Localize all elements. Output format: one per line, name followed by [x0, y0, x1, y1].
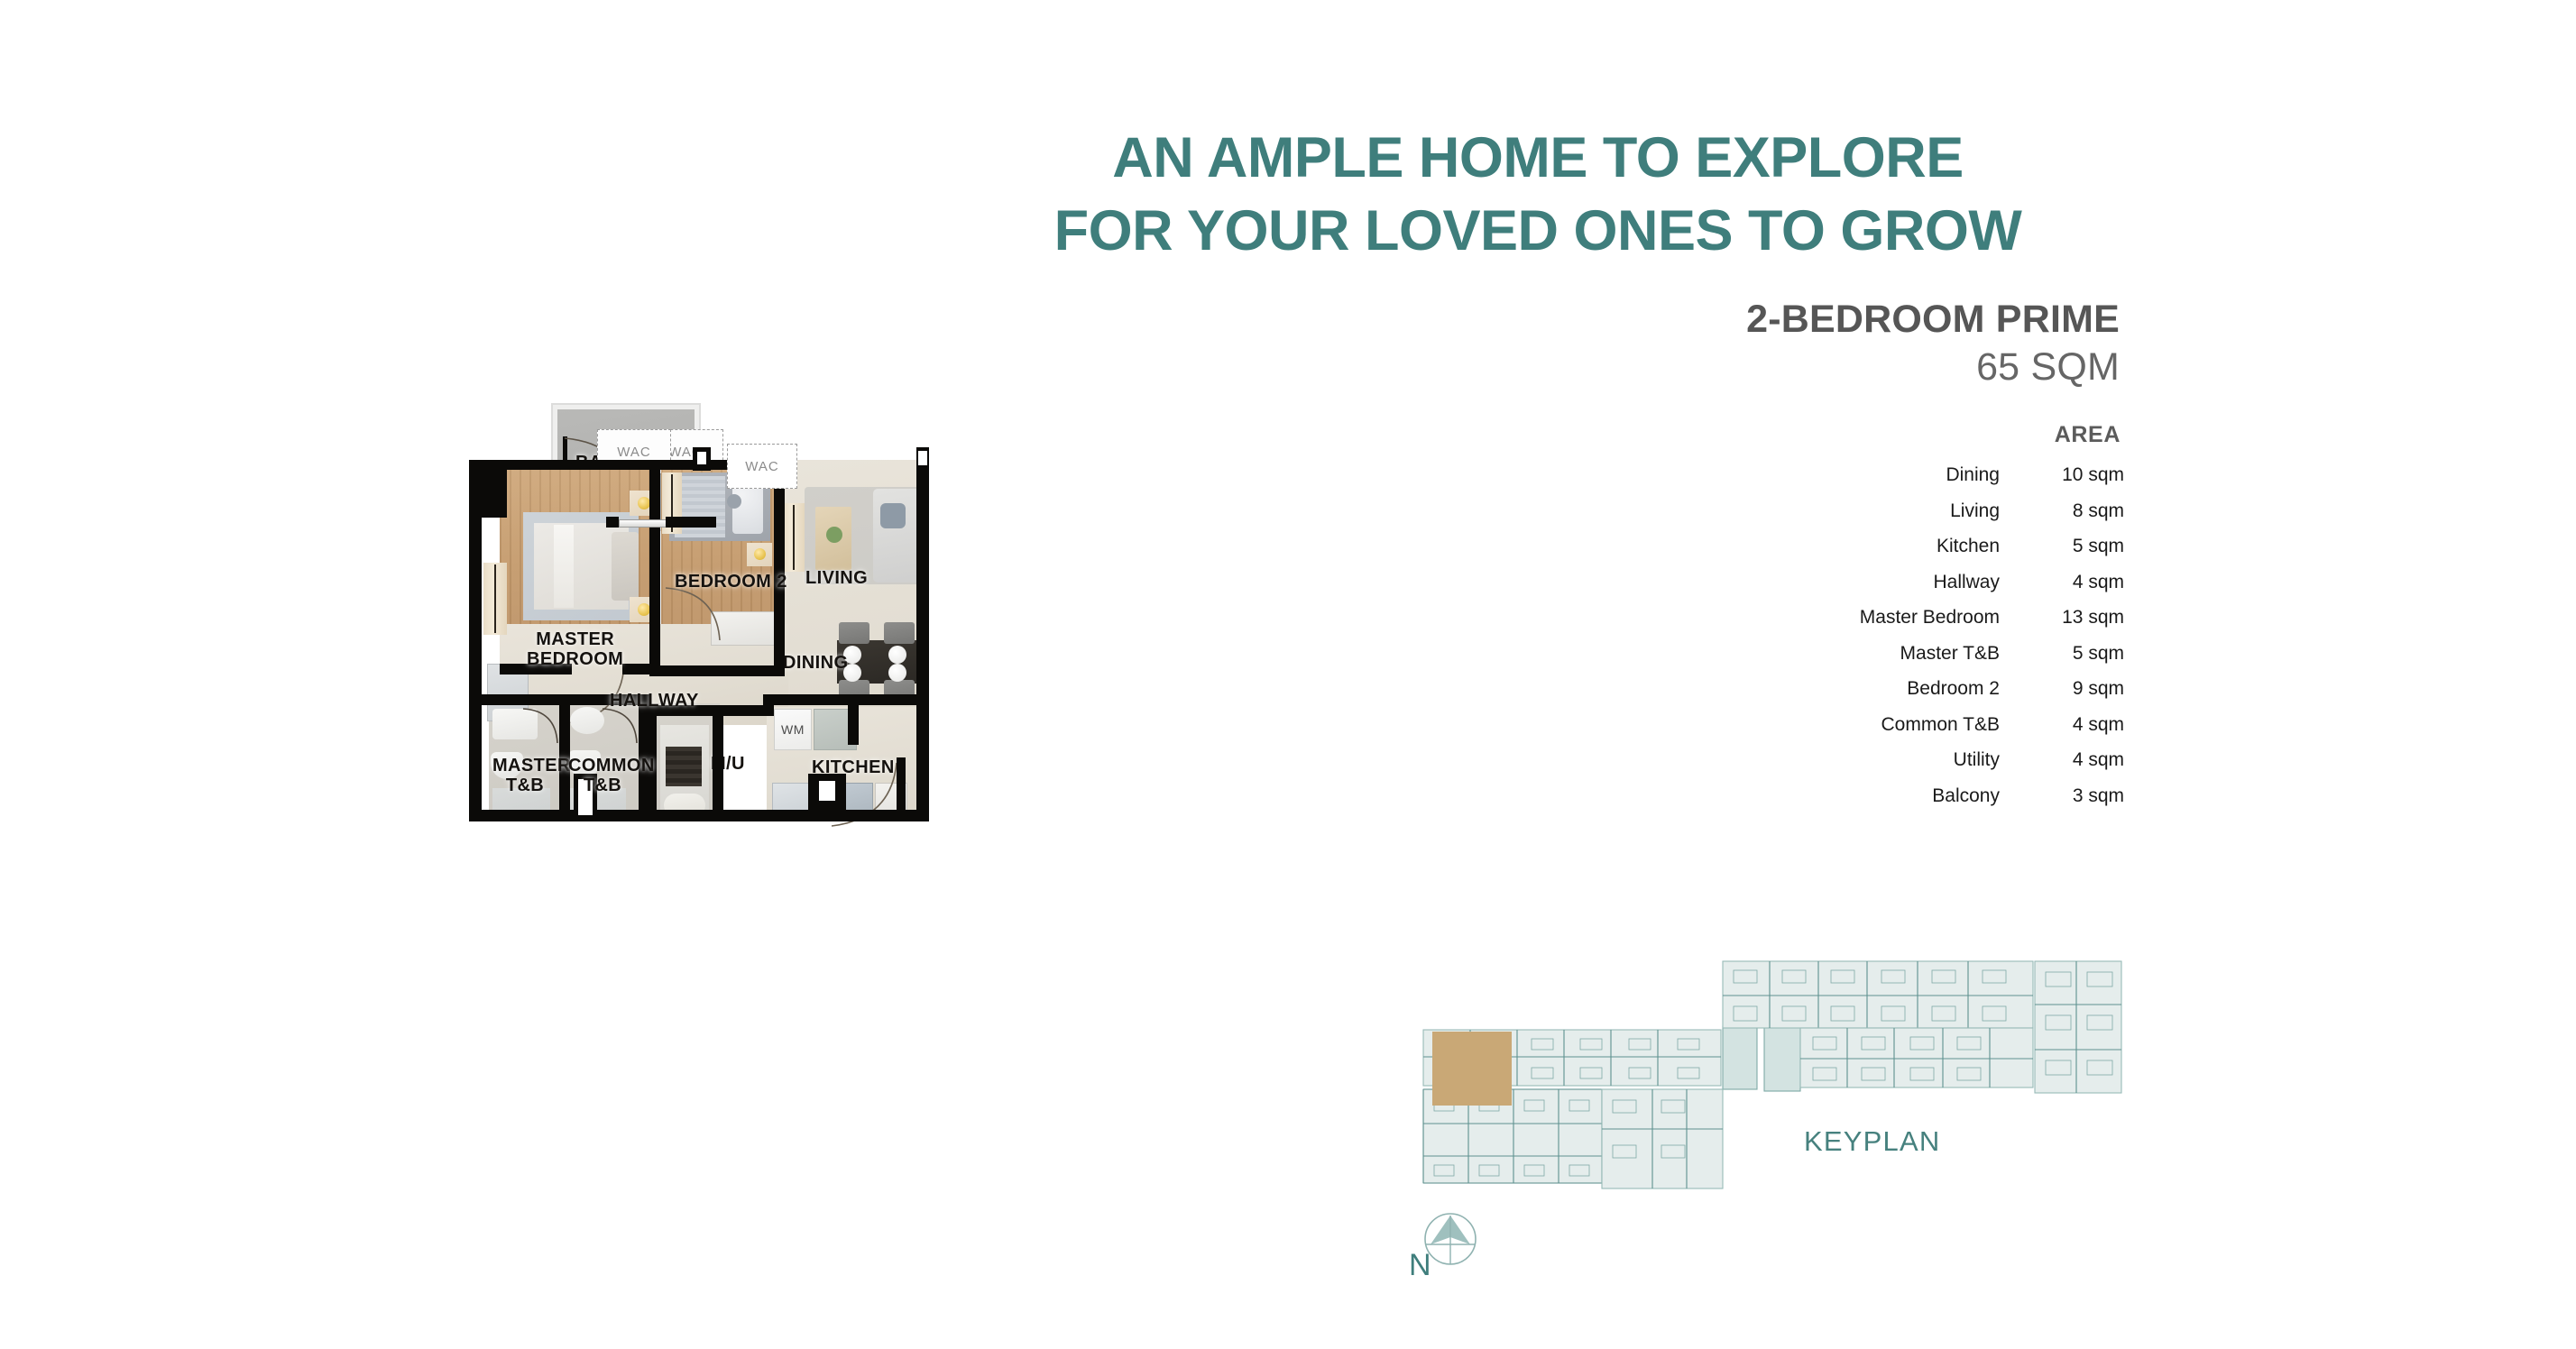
room-label-hallway: HALLWAY — [610, 691, 699, 711]
master-tb-door-swing-icon — [521, 707, 561, 745]
area-room-name: Master T&B — [1741, 643, 2009, 665]
area-room-name: Balcony — [1741, 785, 2009, 807]
room-label-bedroom-2: BEDROOM 2 — [675, 572, 787, 592]
utility-stair-unit — [666, 747, 702, 786]
unit-type-label: 2-BEDROOM PRIME — [1173, 298, 2120, 342]
area-room-name: Master Bedroom — [1741, 607, 2009, 629]
area-table: AREA Dining 10 sqm Living 8 sqm Kitchen … — [1741, 422, 2124, 821]
wall-bedroom2-living-divider — [774, 467, 785, 674]
unit-size-label: 65 SQM — [1173, 344, 2120, 392]
master-bed-sheet — [554, 525, 574, 608]
area-room-value: 3 sqm — [2009, 785, 2124, 807]
master-bed-pillows — [612, 532, 639, 601]
bedroom2-bed — [675, 476, 725, 537]
headline-line-2: FOR YOUR LOVED ONES TO GROW — [956, 195, 2120, 268]
entry-door-jamb — [897, 757, 906, 812]
area-room-name: Bedroom 2 — [1741, 678, 2009, 700]
bedroom2-side-table — [727, 494, 741, 509]
wall-exterior-right — [916, 447, 929, 821]
table-row: Bedroom 2 9 sqm — [1741, 678, 2124, 700]
wall-master-bedroom2-divider — [649, 467, 660, 676]
lamp-icon — [754, 548, 766, 560]
floor-plan: BALCONY WAC WAC — [469, 397, 1299, 1163]
area-room-value: 4 sqm — [2009, 572, 2124, 593]
washing-machine: WM — [774, 709, 812, 750]
master-bedroom-line1: MASTER — [536, 629, 614, 649]
wall-balcony-jamb-left — [606, 517, 619, 528]
wall-right-pier-opening — [918, 451, 927, 465]
area-room-value: 10 sqm — [2009, 464, 2124, 486]
wall-exterior-bottom — [469, 810, 929, 821]
table-row: Balcony 3 sqm — [1741, 785, 2124, 807]
table-row: Master T&B 5 sqm — [1741, 643, 2124, 665]
table-row: Master Bedroom 13 sqm — [1741, 607, 2124, 629]
room-label-master-tb: MASTER T&B — [492, 756, 557, 795]
bedroom2-door-swing-icon — [664, 586, 723, 644]
master-tb-line2: T&B — [506, 775, 544, 795]
dining-chair — [884, 622, 915, 644]
wall-hallway-top — [622, 664, 657, 674]
common-tb-line2: T&B — [584, 775, 621, 795]
area-room-value: 5 sqm — [2009, 643, 2124, 665]
room-label-living: LIVING — [805, 568, 868, 589]
wac-box: WAC — [727, 444, 797, 489]
area-room-value: 5 sqm — [2009, 536, 2124, 557]
area-room-value: 4 sqm — [2009, 714, 2124, 736]
common-tb-line1: COMMON — [568, 756, 655, 775]
wall-balcony-jamb-right — [666, 517, 716, 528]
wall-utility-right — [713, 705, 723, 821]
wall-kitchen-top-outer — [763, 694, 925, 705]
sofa-cushion — [880, 503, 906, 528]
table-row: Utility 4 sqm — [1741, 749, 2124, 771]
area-room-value: 4 sqm — [2009, 749, 2124, 771]
keyplan-diagram — [1416, 956, 2138, 1199]
master-tb-line1: MASTER — [492, 756, 571, 775]
bottom-window-2 — [819, 781, 835, 801]
area-room-name: Living — [1741, 500, 2009, 522]
room-label-common-tb: COMMON T&B — [568, 756, 637, 795]
wall-kitchen-jamb — [763, 694, 774, 716]
lamp-icon — [638, 497, 650, 509]
area-room-name: Common T&B — [1741, 714, 2009, 736]
north-label: N — [1409, 1248, 1431, 1283]
lamp-icon — [638, 603, 650, 616]
keyplan-label: KEYPLAN — [1804, 1125, 1940, 1158]
headline-line-1: AN AMPLE HOME TO EXPLORE — [956, 122, 2120, 195]
area-room-value: 8 sqm — [2009, 500, 2124, 522]
keyplan — [1416, 956, 2138, 1199]
master-bedroom-line2: BEDROOM — [527, 649, 623, 669]
page-headline: AN AMPLE HOME TO EXPLORE FOR YOUR LOVED … — [956, 122, 2120, 267]
table-row: Kitchen 5 sqm — [1741, 536, 2124, 557]
balcony-sliding-door — [619, 519, 667, 528]
wall-top-pier-opening — [697, 452, 706, 464]
table-row: Living 8 sqm — [1741, 500, 2124, 522]
area-table-heading: AREA — [1741, 422, 2124, 448]
dining-chair — [839, 622, 869, 644]
wall-bedroom2-bottom — [649, 665, 785, 676]
master-window-line — [494, 564, 496, 633]
area-room-name: Hallway — [1741, 572, 2009, 593]
room-label-dining: DINING — [783, 653, 848, 674]
plant-icon — [826, 527, 842, 543]
keyplan-highlight-unit — [1432, 1032, 1512, 1106]
table-row: Hallway 4 sqm — [1741, 572, 2124, 593]
table-row: Common T&B 4 sqm — [1741, 714, 2124, 736]
wall-kitchen-cabinet-end — [848, 705, 859, 745]
plate-icon — [888, 664, 906, 682]
area-room-value: 13 sqm — [2009, 607, 2124, 629]
area-room-value: 9 sqm — [2009, 678, 2124, 700]
common-lavatory — [570, 707, 604, 734]
living-window-line — [793, 505, 795, 570]
wall-master-tb-top — [482, 694, 561, 705]
room-label-master-bedroom: MASTER BEDROOM — [527, 629, 623, 669]
common-tb-door-swing-icon — [601, 707, 640, 745]
table-row: Dining 10 sqm — [1741, 464, 2124, 486]
plate-icon — [888, 646, 906, 664]
area-room-name: Utility — [1741, 749, 2009, 771]
unit-subtitle: 2-BEDROOM PRIME 65 SQM — [1173, 298, 2120, 392]
area-room-name: Dining — [1741, 464, 2009, 486]
area-room-name: Kitchen — [1741, 536, 2009, 557]
